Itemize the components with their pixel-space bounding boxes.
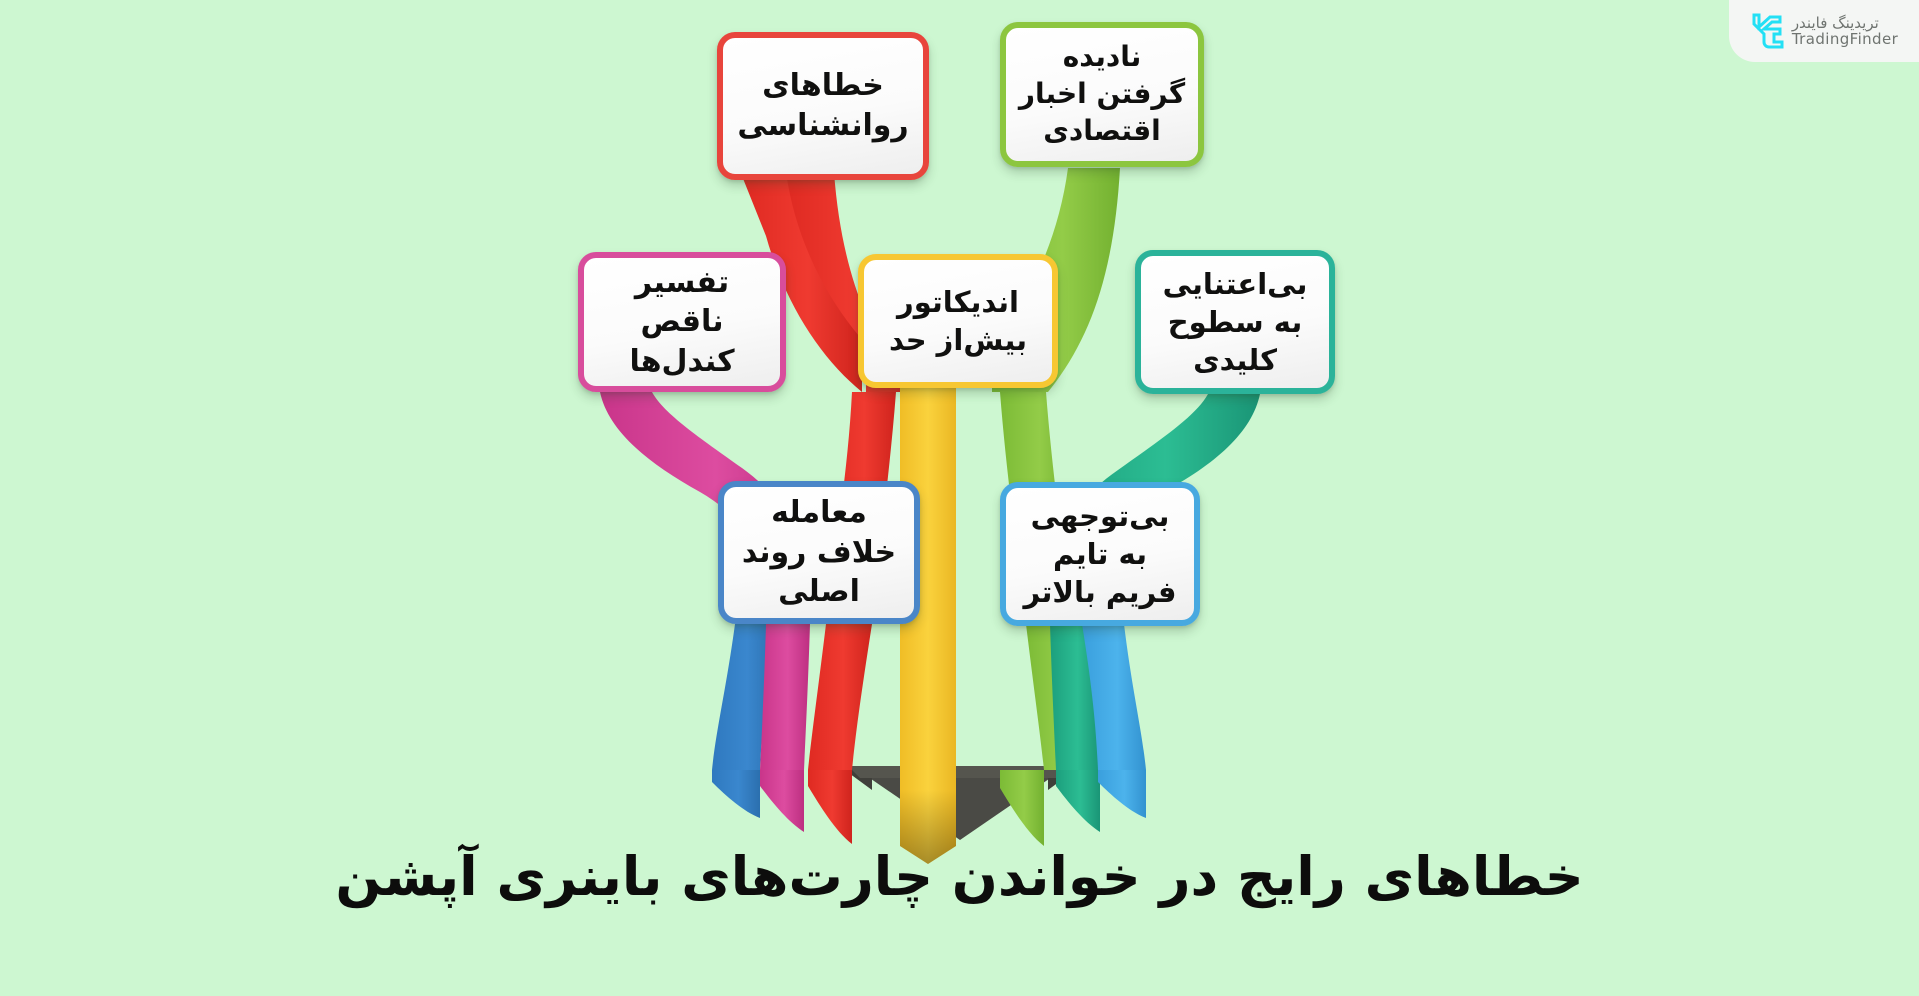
node-ignoring-key-levels[interactable]: بی‌اعتنایی به سطوح کلیدی (1135, 250, 1335, 394)
node-too-many-indicators[interactable]: اندیکاتور بیش‌از حد (858, 254, 1058, 388)
node-label: بی‌اعتنایی به سطوح کلیدی (1151, 265, 1319, 380)
brand-name-fa: تریدینگ فایندر (1792, 15, 1879, 31)
node-ignoring-economic-news[interactable]: نادیده گرفتن اخبار اقتصادی (1000, 22, 1204, 167)
node-label: بی‌توجهی به تایم فریم بالاتر (1016, 497, 1184, 612)
node-label: معامله خلاف روند اصلی (734, 493, 904, 612)
node-trading-against-trend[interactable]: معامله خلاف روند اصلی (718, 481, 920, 624)
node-psychological-errors[interactable]: خطاهای روانشناسی (717, 32, 929, 180)
node-label: نادیده گرفتن اخبار اقتصادی (1016, 39, 1188, 150)
tradingfinder-tf-monogram-icon (1750, 11, 1784, 51)
node-label: اندیکاتور بیش‌از حد (874, 283, 1042, 360)
node-label: خطاهای روانشناسی (733, 66, 913, 145)
node-incomplete-candle-reading[interactable]: تفسیر ناقص کندل‌ها (578, 252, 786, 392)
brand-name-en: TradingFinder (1792, 31, 1898, 47)
infographic-canvas: خطاهای روانشناسی نادیده گرفتن اخبار اقتص… (0, 0, 1919, 996)
node-label: تفسیر ناقص کندل‌ها (594, 263, 770, 382)
page-title: خطاهای رایج در خواندن چارت‌های باینری آپ… (0, 845, 1919, 908)
brand-wordmark: تریدینگ فایندر TradingFinder (1792, 15, 1898, 47)
brand-logo-card[interactable]: تریدینگ فایندر TradingFinder (1729, 0, 1919, 62)
node-ignoring-higher-timeframe[interactable]: بی‌توجهی به تایم فریم بالاتر (1000, 482, 1200, 626)
